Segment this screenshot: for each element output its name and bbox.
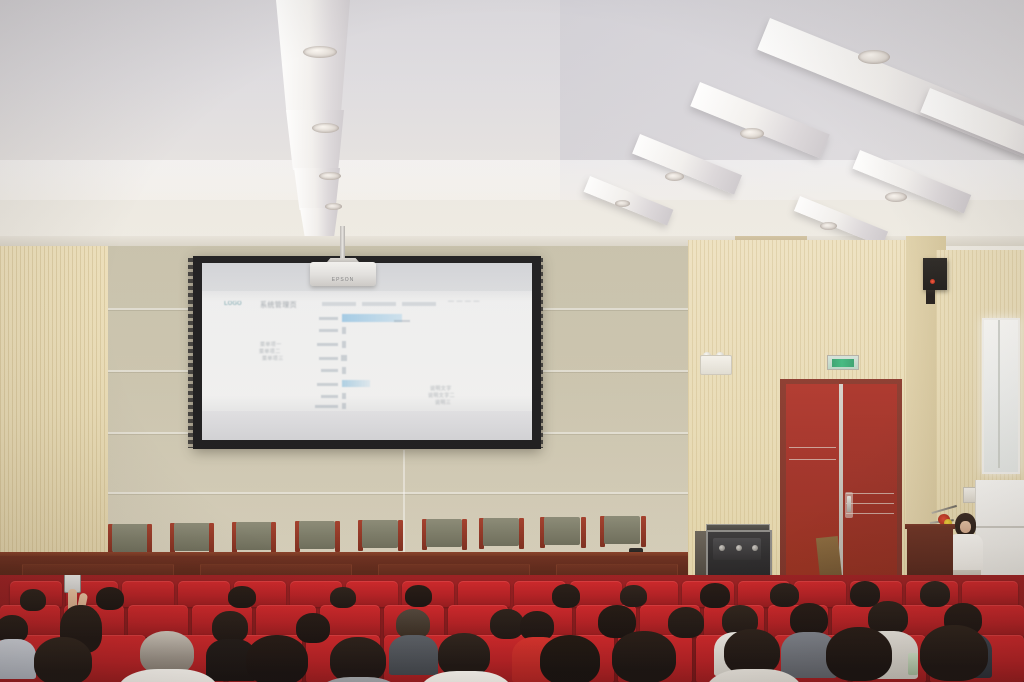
side-window bbox=[982, 318, 1020, 474]
slide-field-highlighted bbox=[342, 314, 402, 322]
person-head bbox=[552, 584, 580, 608]
person-head bbox=[246, 635, 308, 682]
spare-wooden-chair bbox=[816, 536, 842, 580]
person-head bbox=[668, 607, 704, 638]
person-head bbox=[330, 587, 356, 608]
slide-footnote: 说明文字二 bbox=[428, 392, 455, 399]
speaker-bracket bbox=[926, 288, 935, 304]
slide-heading: 系统管理页 bbox=[260, 300, 297, 310]
person-body bbox=[389, 635, 438, 675]
exit-running-man-icon bbox=[832, 359, 854, 367]
stage-chair bbox=[422, 519, 467, 556]
recessed-downlight bbox=[820, 222, 837, 230]
slide-field-value bbox=[341, 355, 347, 361]
cabinet-seam bbox=[975, 526, 1024, 528]
chair-frame-post bbox=[209, 523, 214, 554]
stage-chair bbox=[479, 518, 524, 556]
slide-watermark: — — — — bbox=[448, 299, 480, 305]
exit-sign bbox=[827, 355, 859, 370]
person-head bbox=[228, 586, 256, 608]
chair-frame-post bbox=[462, 519, 467, 550]
chair-backrest bbox=[604, 516, 640, 544]
window-mullion bbox=[998, 320, 1000, 468]
ceiling-beam-center-seg4 bbox=[300, 208, 338, 236]
slide-footnote: 说明文字 bbox=[430, 385, 452, 392]
chair-frame-post bbox=[335, 521, 340, 552]
person-head bbox=[770, 583, 799, 607]
door-trim-line bbox=[789, 459, 836, 460]
slide-field-label bbox=[319, 317, 338, 320]
person-head bbox=[490, 609, 524, 639]
slide-field-label bbox=[321, 369, 338, 372]
slide-field-label bbox=[317, 343, 338, 346]
recessed-downlight bbox=[740, 128, 764, 139]
recessed-downlight bbox=[325, 203, 342, 210]
person-head bbox=[34, 637, 92, 682]
presenter-face bbox=[960, 521, 971, 533]
audience-seating bbox=[0, 575, 1024, 682]
stage-chair bbox=[358, 520, 403, 556]
slide-field-label bbox=[319, 357, 338, 360]
mixer-knob[interactable] bbox=[736, 545, 742, 551]
chair-backrest bbox=[544, 517, 580, 545]
wall-panel-seam bbox=[108, 492, 688, 494]
chair-frame-post bbox=[519, 518, 524, 549]
person-head bbox=[612, 631, 676, 682]
chair-backrest bbox=[236, 522, 272, 550]
door-handle[interactable] bbox=[847, 496, 851, 512]
slide-field-value bbox=[342, 327, 346, 334]
person-head bbox=[920, 581, 950, 607]
door-trim-line bbox=[846, 503, 894, 504]
door-trim-line bbox=[789, 447, 836, 448]
slide-sidebar-line: 菜单项一 bbox=[260, 341, 282, 348]
slide-tab bbox=[362, 302, 396, 306]
slide-field-highlighted bbox=[342, 380, 370, 387]
chair-frame-post bbox=[147, 524, 152, 555]
speaker-icon bbox=[923, 258, 947, 290]
auditorium-seat[interactable] bbox=[122, 581, 174, 607]
slide-field-value bbox=[342, 367, 346, 374]
person-head bbox=[540, 635, 600, 682]
person-head bbox=[826, 627, 892, 681]
projection-screen-surface: LOGO 系统管理页 — — — — 菜单项一 菜单项二 菜单项三 说明文字 说… bbox=[202, 263, 532, 440]
stage-chair bbox=[540, 517, 586, 556]
slide-sidebar-line: 菜单项三 bbox=[262, 355, 284, 362]
slide-field-label bbox=[315, 405, 338, 408]
wall-left bbox=[0, 246, 112, 582]
chair-backrest bbox=[483, 518, 519, 546]
stage-chair bbox=[232, 522, 276, 556]
chair-frame-post bbox=[271, 522, 276, 553]
chair-backrest bbox=[299, 521, 335, 549]
recessed-downlight bbox=[312, 123, 339, 133]
slide-field-label bbox=[317, 383, 338, 386]
slide-field-value bbox=[342, 393, 346, 399]
door-trim-line bbox=[846, 493, 894, 494]
auditorium-seat[interactable] bbox=[178, 581, 230, 607]
recessed-downlight bbox=[665, 172, 684, 181]
chair-backrest bbox=[362, 520, 398, 548]
stage-chair bbox=[295, 521, 340, 556]
mixer-knob[interactable] bbox=[719, 545, 725, 551]
person-head bbox=[330, 637, 386, 682]
person-head bbox=[96, 587, 124, 610]
person-head bbox=[920, 625, 988, 681]
slide-field-label bbox=[321, 395, 338, 398]
mixer-knob[interactable] bbox=[752, 545, 758, 551]
chair-backrest bbox=[426, 519, 462, 547]
recessed-downlight bbox=[615, 200, 630, 207]
recessed-downlight bbox=[885, 192, 907, 202]
slide-field-value bbox=[342, 341, 346, 348]
person-body bbox=[0, 639, 36, 679]
recessed-downlight bbox=[319, 172, 341, 180]
slide-sidebar-line: 菜单项二 bbox=[259, 348, 281, 355]
slide-field-hint bbox=[394, 320, 410, 322]
chair-frame-post bbox=[581, 517, 586, 548]
person-head bbox=[296, 613, 330, 643]
recessed-downlight bbox=[858, 50, 890, 64]
projector-brand-label: EPSON bbox=[310, 277, 376, 283]
slide-logo: LOGO bbox=[224, 301, 242, 307]
person-head bbox=[700, 583, 730, 608]
chair-frame-post bbox=[641, 516, 646, 547]
speaker-indicator-led bbox=[930, 279, 935, 284]
chair-frame-post bbox=[398, 520, 403, 551]
slide-tab bbox=[322, 302, 356, 306]
auditorium-photo: LOGO 系统管理页 — — — — 菜单项一 菜单项二 菜单项三 说明文字 说… bbox=[0, 0, 1024, 682]
slide-tab bbox=[402, 302, 436, 306]
auditorium-seat[interactable] bbox=[458, 581, 510, 607]
recessed-downlight bbox=[303, 46, 337, 58]
wall-panel-seam-vertical bbox=[403, 450, 405, 556]
water-bottle[interactable] bbox=[908, 653, 918, 675]
door-trim-line bbox=[846, 513, 894, 514]
exit-door-right-leaf[interactable] bbox=[843, 384, 897, 576]
chair-backrest bbox=[112, 524, 148, 552]
ceiling-beam-center-seg2 bbox=[286, 110, 344, 170]
person-head bbox=[405, 585, 432, 607]
slide-field-value bbox=[342, 403, 346, 409]
chair-backrest bbox=[174, 523, 210, 551]
slide-bottom-band bbox=[202, 411, 532, 440]
emergency-light bbox=[700, 355, 732, 375]
person-head bbox=[620, 585, 647, 607]
slide-footnote: 说明三 bbox=[435, 399, 451, 406]
slide-field-label bbox=[319, 329, 338, 332]
projector-mount-rod bbox=[340, 226, 345, 262]
door-center-gap bbox=[839, 384, 843, 576]
person-head bbox=[20, 589, 46, 611]
